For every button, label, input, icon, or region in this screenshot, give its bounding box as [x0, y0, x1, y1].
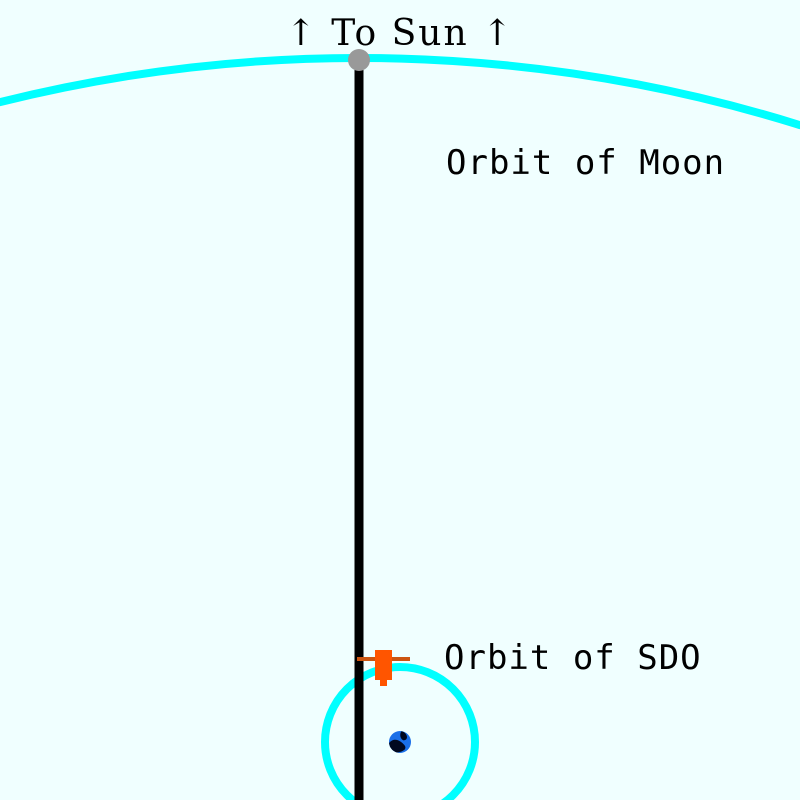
- diagram-background: [0, 0, 800, 800]
- sdo-solar-panel-left: [357, 657, 376, 661]
- sdo-bus-body: [375, 650, 392, 680]
- orbit-of-moon-label: Orbit of Moon: [446, 143, 725, 183]
- earth-body[interactable]: [389, 731, 411, 753]
- sdo-solar-panel-right: [391, 657, 410, 661]
- orbital-diagram-canvas: ↑ To Sun ↑ Orbit of Moon Orbit of SDO: [0, 0, 800, 800]
- to-sun-direction-label: ↑ To Sun ↑: [0, 14, 800, 54]
- diagram-scene: [0, 0, 800, 800]
- sdo-instrument-nub: [380, 678, 387, 686]
- orbit-of-sdo-label: Orbit of SDO: [444, 638, 702, 678]
